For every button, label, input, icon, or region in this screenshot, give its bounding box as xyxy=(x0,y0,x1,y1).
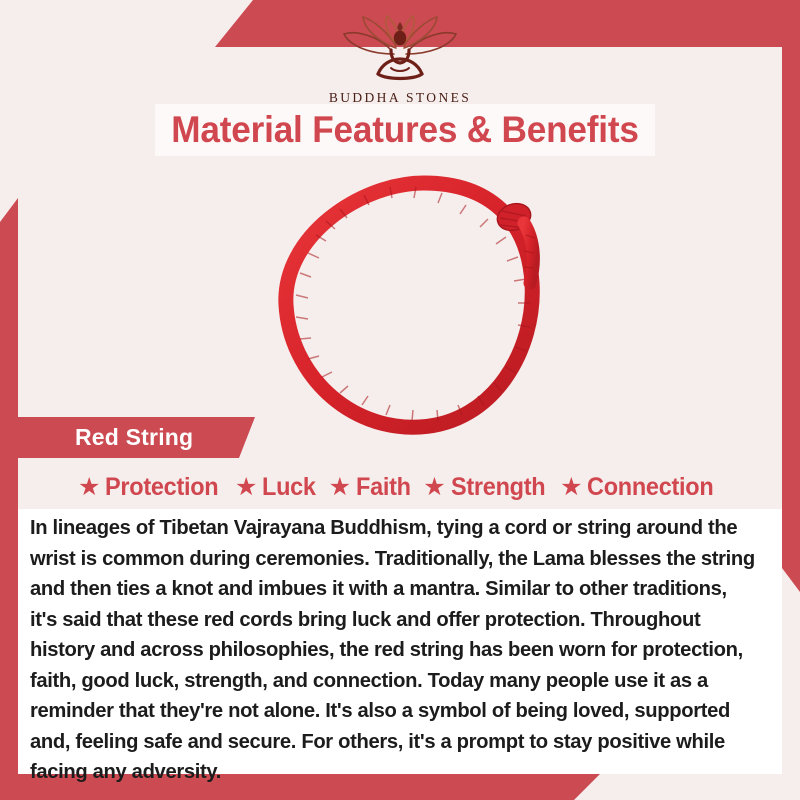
brand-logo: BUDDHA STONES xyxy=(0,14,800,106)
material-name-ribbon: Red String xyxy=(18,417,255,458)
benefit-item-connection: ★ Connection xyxy=(560,473,722,502)
star-icon: ★ xyxy=(560,475,582,500)
benefit-label: Luck xyxy=(262,473,316,502)
description-text: In lineages of Tibetan Vajrayana Buddhis… xyxy=(30,513,757,788)
benefit-item-faith: ★ Faith xyxy=(329,473,415,502)
benefit-item-protection: ★ Protection xyxy=(78,473,226,502)
benefit-item-strength: ★ Strength xyxy=(423,473,551,502)
star-icon: ★ xyxy=(329,475,351,500)
star-icon: ★ xyxy=(423,475,445,500)
benefit-label: Faith xyxy=(356,473,411,502)
star-icon: ★ xyxy=(235,475,257,500)
benefit-label: Strength xyxy=(451,473,545,502)
description-panel: In lineages of Tibetan Vajrayana Buddhis… xyxy=(18,509,782,774)
star-icon: ★ xyxy=(78,475,100,500)
benefit-label: Protection xyxy=(105,473,218,502)
product-image-area xyxy=(18,157,782,457)
left-red-accent-bar xyxy=(0,198,18,800)
lotus-meditation-figure-icon xyxy=(334,14,466,86)
benefits-list: ★ Protection ★ Luck ★ Faith ★ Strength ★… xyxy=(18,466,782,508)
page-title: Material Features & Benefits xyxy=(171,109,638,151)
infographic-canvas: BUDDHA STONES Material Features & Benefi… xyxy=(0,0,800,800)
title-banner: Material Features & Benefits xyxy=(155,104,655,156)
benefit-label: Connection xyxy=(587,473,713,502)
benefit-item-luck: ★ Luck xyxy=(235,473,320,502)
material-name-label: Red String xyxy=(75,424,193,451)
red-string-bracelet-image xyxy=(256,165,586,450)
